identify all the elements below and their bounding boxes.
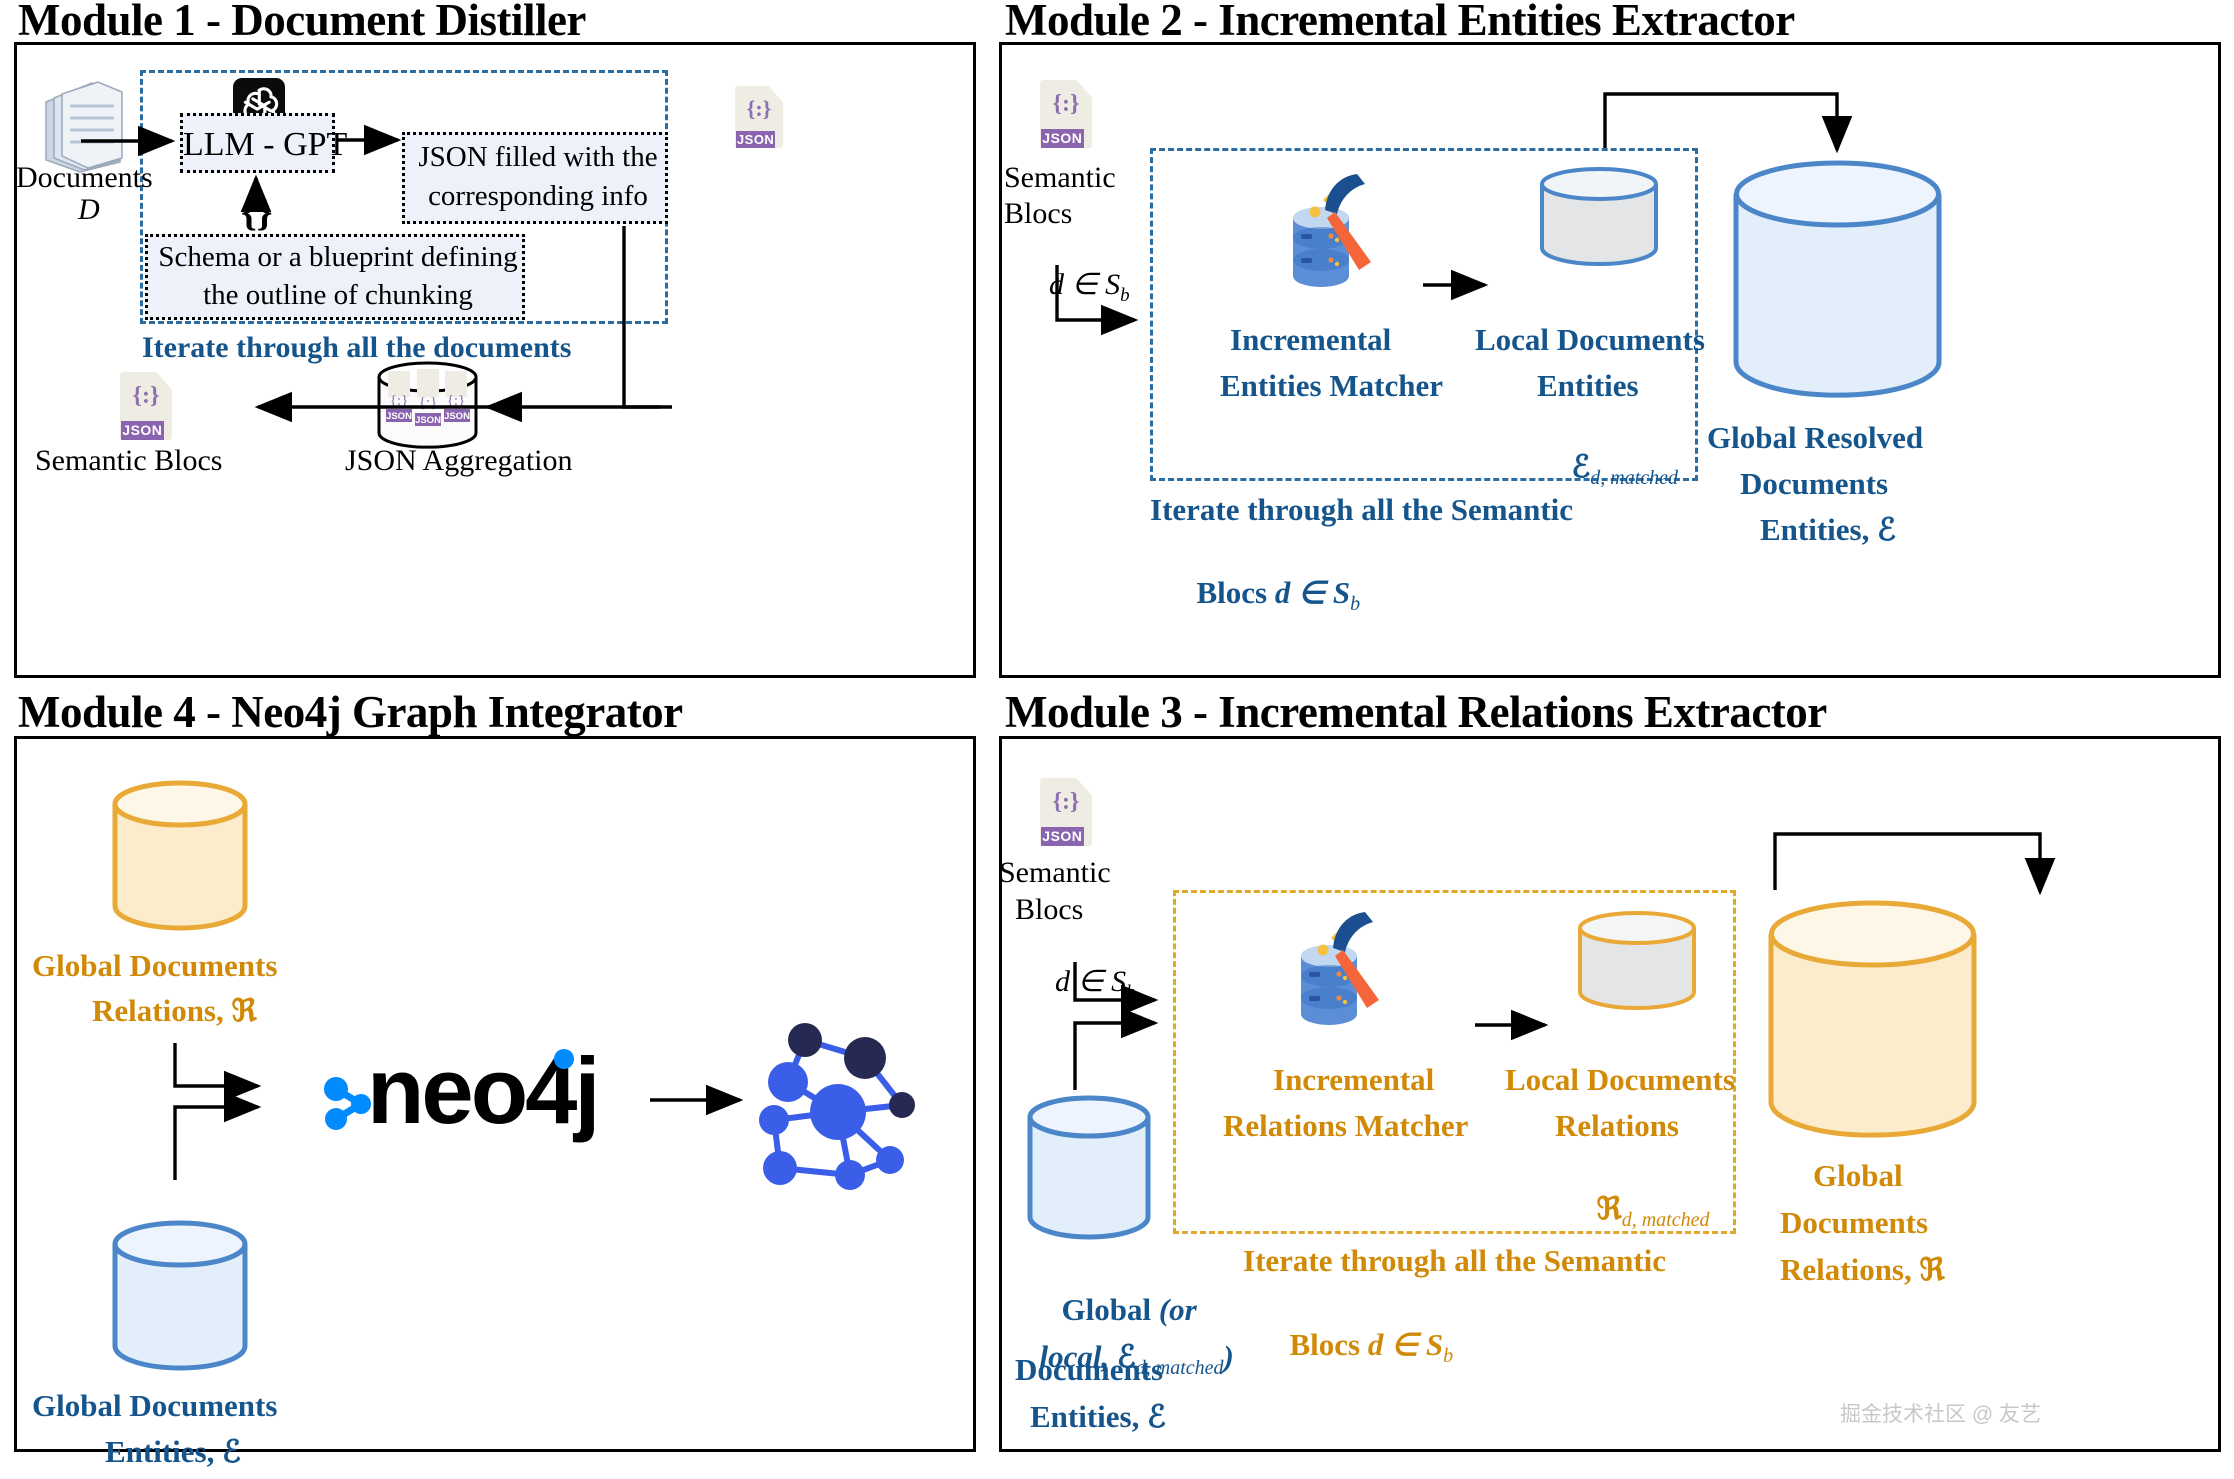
local-relations-cylinder (1573, 912, 1701, 1012)
global-or-local-entities-cylinder (1025, 1095, 1153, 1245)
json-braces-glyph: {:} (1040, 91, 1092, 118)
semantic-blocs-variable: d ∈ Sb (1010, 929, 1136, 1040)
global-relations-line-1: Global Documents (32, 948, 277, 985)
schema-box[interactable]: Schema or a blueprint defining the outli… (145, 234, 525, 320)
semantic-blocs-line-2: Blocs (1015, 892, 1083, 927)
neo4j-logo: neo4j (320, 1035, 595, 1140)
json-braces-glyph: {:} (120, 383, 172, 410)
local-relations-line-1: Local Documents (1505, 1062, 1735, 1099)
json-file-tag: JSON (1041, 129, 1084, 148)
iterate-blocs-prefix: Blocs (1290, 1327, 1368, 1362)
global-relations-cylinder (110, 780, 250, 935)
global-entities-line-1: Global Documents (32, 1388, 277, 1425)
global-or-local-close: ) (1224, 1339, 1234, 1374)
json-braces-glyph: {:} (735, 96, 783, 122)
local-relations-sym-sub: d, matched (1622, 1209, 1710, 1231)
semantic-blocs-json-icon: {:} JSON (120, 372, 172, 440)
module-2-panel: Module 2 - Incremental Entities Extracto… (985, 0, 2234, 690)
local-entities-sym-sub: d, matched (1590, 467, 1678, 489)
global-or-local-line-3: Documents (1015, 1352, 1163, 1389)
module-3-iterate-line-1: Iterate through all the Semantic (1243, 1243, 1666, 1280)
global-relations-line-1: Global (1813, 1158, 1903, 1195)
json-file-tag: JSON (736, 131, 775, 148)
watermark-text: 掘金技术社区 @ 友艺 (1840, 1398, 2041, 1428)
semantic-var-main: d ∈ S (1055, 965, 1126, 998)
incremental-matcher-line-2: Relations Matcher (1223, 1108, 1468, 1145)
iterate-blocs-prefix: Blocs (1197, 575, 1275, 610)
documents-label: Documents (16, 160, 153, 195)
global-relations-line-3: Relations, ℜ (1780, 1252, 1945, 1289)
global-resolved-line-1: Global Resolved (1707, 420, 1923, 457)
semantic-blocs-line-1: Semantic (1004, 160, 1116, 195)
module-1-title: Module 1 - Document Distiller (18, 0, 586, 43)
json-file-tag: JSON (1041, 827, 1084, 846)
schema-line-1: Schema or a blueprint defining (148, 240, 528, 274)
local-relations-line-2: Relations (1555, 1108, 1679, 1145)
llm-gpt-label: LLM - GPT (183, 125, 338, 165)
module-1-panel: Module 1 - Document Distiller Documents … (0, 0, 985, 690)
svg-text:{:}: {:} (419, 395, 438, 411)
local-entities-sym-main: ℰ (1572, 449, 1591, 484)
semantic-var-sub: b (1120, 285, 1130, 306)
semantic-blocs-line-2: Blocs (1004, 196, 1072, 231)
json-braces-glyph: {:} (1040, 789, 1092, 816)
global-entities-cylinder (110, 1220, 250, 1375)
global-or-local-line-4: Entities, ℰ (1030, 1399, 1166, 1436)
iterate-blocs-sub: b (1350, 593, 1360, 615)
schema-line-2: the outline of chunking (148, 278, 528, 312)
semantic-var-sub: b (1126, 982, 1136, 1003)
module-1-iterate-caption: Iterate through all the documents (142, 330, 571, 365)
iterate-blocs-var: d ∈ S (1368, 1327, 1443, 1362)
iterate-blocs-var: d ∈ S (1275, 575, 1350, 610)
diagram-page: Module 1 - Document Distiller Documents … (0, 0, 2234, 1479)
semantic-var-main: d ∈ S (1049, 268, 1120, 301)
module-2-title: Module 2 - Incremental Entities Extracto… (1005, 0, 1795, 43)
incremental-matcher-line-1: Incremental (1273, 1062, 1434, 1099)
global-entities-line-2: Entities, ℰ (105, 1434, 241, 1471)
json-aggregation-cylinder: {:} {:} {:} JSON JSON JSON (375, 363, 480, 448)
local-entities-line-1: Local Documents (1475, 322, 1705, 359)
json-file-icon: {:} JSON (735, 86, 783, 148)
svg-text:{:}: {:} (390, 393, 409, 409)
semantic-blocs-label: Semantic Blocs (35, 443, 222, 478)
local-entities-line-2: Entities (1537, 368, 1639, 405)
schema-braces-glyph: {} (241, 188, 273, 235)
module-3-title: Module 3 - Incremental Relations Extract… (1005, 690, 1827, 735)
svg-text:JSON: JSON (386, 411, 412, 422)
global-relations-line-2: Documents (1780, 1205, 1928, 1242)
incremental-matcher-icon (1275, 170, 1397, 302)
incremental-matcher-icon (1283, 908, 1405, 1040)
module-3-panel: Module 3 - Incremental Relations Extract… (985, 690, 2234, 1479)
llm-gpt-box[interactable]: LLM - GPT (180, 113, 335, 173)
module-2-iterate-line-2: Blocs d ∈ Sb (1150, 538, 1360, 653)
json-filled-line-2: corresponding info (405, 179, 671, 213)
local-entities-cylinder (1535, 168, 1663, 268)
semantic-blocs-json-icon: {:} JSON (1040, 778, 1092, 846)
documents-variable: D (78, 192, 100, 227)
module-4-title: Module 4 - Neo4j Graph Integrator (18, 690, 683, 735)
module-3-iterate-line-2: Blocs d ∈ Sb (1243, 1290, 1453, 1405)
svg-text:{:}: {:} (447, 393, 466, 409)
global-relations-line-2: Relations, ℜ (92, 993, 257, 1030)
semantic-blocs-json-icon: {:} JSON (1040, 80, 1092, 148)
global-resolved-line-2: Documents (1740, 466, 1888, 503)
global-resolved-line-3: Entities, ℰ (1760, 512, 1896, 549)
json-filled-line-1: JSON filled with the (405, 140, 671, 174)
svg-text:JSON: JSON (415, 415, 441, 426)
incremental-matcher-line-1: Incremental (1230, 322, 1391, 359)
local-relations-sym-main: ℜ (1597, 1191, 1622, 1226)
svg-text:JSON: JSON (444, 411, 470, 422)
module-4-panel: Module 4 - Neo4j Graph Integrator Global… (0, 690, 985, 1479)
global-resolved-cylinder (1730, 160, 1945, 410)
json-aggregation-label: JSON Aggregation (345, 443, 573, 478)
semantic-blocs-variable: d ∈ Sb (1004, 232, 1130, 343)
graph-network-icon (750, 1020, 935, 1205)
iterate-blocs-sub: b (1443, 1345, 1453, 1367)
incremental-matcher-line-2: Entities Matcher (1220, 368, 1443, 405)
json-filled-box[interactable]: JSON filled with the corresponding info (402, 132, 668, 224)
module-2-iterate-line-1: Iterate through all the Semantic (1150, 492, 1573, 529)
semantic-blocs-line-1: Semantic (999, 855, 1111, 890)
json-file-tag: JSON (121, 421, 164, 440)
global-relations-cylinder (1765, 900, 1980, 1150)
